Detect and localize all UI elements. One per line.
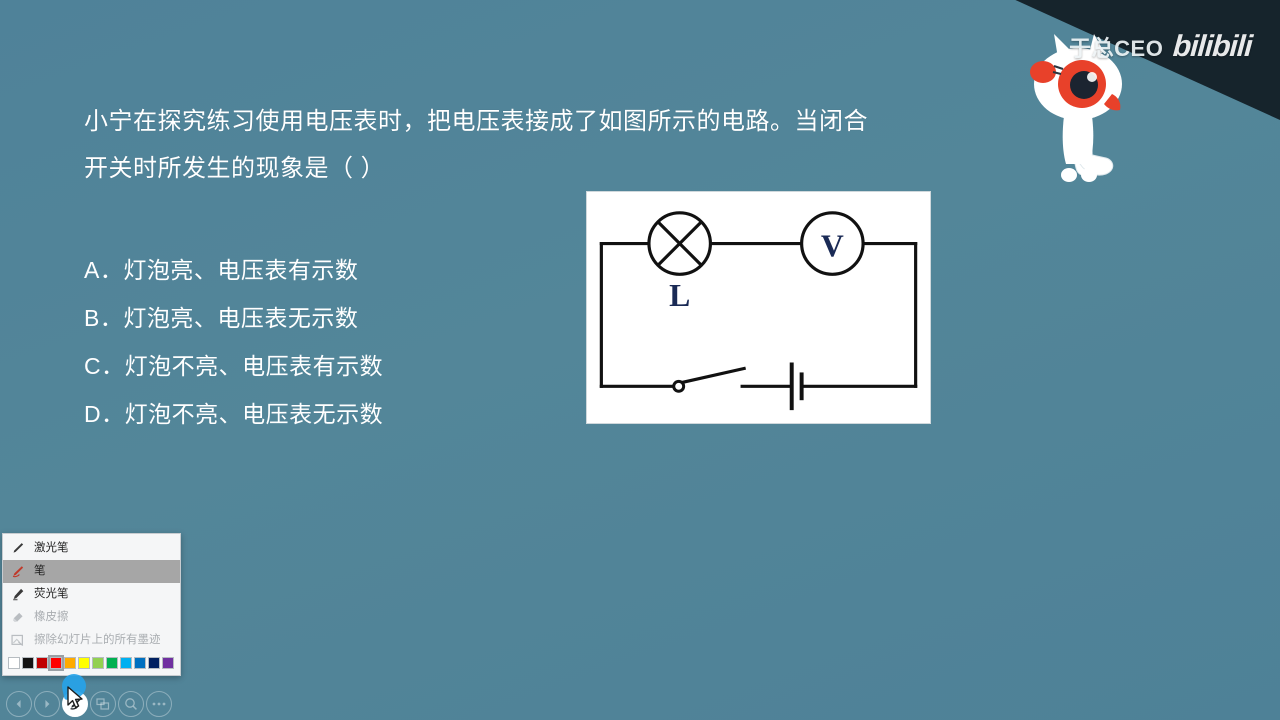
- option-b-letter: B．: [84, 294, 123, 342]
- more-options-button[interactable]: [146, 691, 172, 717]
- previous-slide-button[interactable]: [6, 691, 32, 717]
- slideshow-control-bar[interactable]: [0, 688, 195, 720]
- menu-item-highlighter[interactable]: 荧光笔: [3, 583, 180, 606]
- next-slide-button[interactable]: [34, 691, 60, 717]
- color-swatch-red[interactable]: [50, 657, 62, 669]
- question-line-1: 小宁在探究练习使用电压表时，把电压表接成了如图所示的电路。当闭合: [84, 98, 964, 145]
- svg-text:V: V: [821, 228, 844, 263]
- pen-color-palette[interactable]: [3, 652, 180, 675]
- option-b[interactable]: B．灯泡亮、电压表无示数: [84, 294, 604, 342]
- menu-item-pen-label: 笔: [34, 566, 46, 578]
- all-slides-button[interactable]: [90, 691, 116, 717]
- menu-item-eraser[interactable]: 橡皮擦: [3, 606, 180, 629]
- color-swatch-white[interactable]: [8, 657, 20, 669]
- option-c-letter: C．: [84, 342, 125, 390]
- pen-tools-button[interactable]: [62, 691, 88, 717]
- color-swatch-light-green[interactable]: [92, 657, 104, 669]
- eraser-icon: [9, 610, 25, 626]
- menu-item-laser-pointer[interactable]: 激光笔: [3, 537, 180, 560]
- highlighter-icon: [9, 587, 25, 603]
- option-a-text: 灯泡亮、电压表有示数: [123, 257, 358, 283]
- zoom-in-button[interactable]: [118, 691, 144, 717]
- watermark-channel-name: 于总CEO: [1069, 31, 1163, 63]
- pen-icon: [9, 564, 25, 580]
- option-c[interactable]: C．灯泡不亮、电压表有示数: [84, 342, 604, 390]
- pen-tools-menu[interactable]: 激光笔 笔 荧光笔 橡皮擦: [2, 533, 181, 676]
- answer-options: A．灯泡亮、电压表有示数 B．灯泡亮、电压表无示数 C．灯泡不亮、电压表有示数 …: [84, 246, 604, 438]
- magnifier-icon: [124, 697, 138, 711]
- bilibili-mascot: [1020, 28, 1145, 193]
- circuit-diagram: L V: [586, 191, 931, 424]
- ellipsis-icon: [151, 701, 167, 707]
- menu-item-erase-all-ink[interactable]: 擦除幻灯片上的所有墨迹: [3, 629, 180, 652]
- color-swatch-yellow[interactable]: [78, 657, 90, 669]
- color-swatch-dark-red[interactable]: [36, 657, 48, 669]
- option-a[interactable]: A．灯泡亮、电压表有示数: [84, 246, 604, 294]
- option-a-letter: A．: [84, 246, 123, 294]
- chevron-left-icon: [13, 698, 25, 710]
- slide-canvas[interactable]: 小宁在探究练习使用电压表时，把电压表接成了如图所示的电路。当闭合 开关时所发生的…: [0, 0, 1280, 720]
- erase-all-ink-icon: [9, 633, 25, 649]
- question-line-2: 开关时所发生的现象是（ ）: [84, 145, 964, 192]
- bilibili-logo: bilibili: [1172, 30, 1253, 64]
- menu-item-laser-pointer-label: 激光笔: [34, 543, 69, 555]
- color-swatch-black[interactable]: [22, 657, 34, 669]
- battery-symbol: [792, 363, 802, 411]
- option-c-text: 灯泡不亮、电压表有示数: [125, 353, 384, 379]
- chevron-right-icon: [41, 698, 53, 710]
- pen-icon: [67, 696, 83, 712]
- question-text: 小宁在探究练习使用电压表时，把电压表接成了如图所示的电路。当闭合 开关时所发生的…: [84, 98, 964, 192]
- color-swatch-dark-blue[interactable]: [148, 657, 160, 669]
- voltmeter-symbol: V: [802, 213, 863, 274]
- option-d-letter: D．: [84, 390, 125, 438]
- color-swatch-green[interactable]: [106, 657, 118, 669]
- color-swatch-blue[interactable]: [134, 657, 146, 669]
- menu-item-pen[interactable]: 笔: [3, 560, 180, 583]
- svg-text:L: L: [669, 278, 690, 313]
- menu-item-eraser-label: 橡皮擦: [34, 612, 69, 624]
- option-b-text: 灯泡亮、电压表无示数: [123, 305, 358, 331]
- option-d-text: 灯泡不亮、电压表无示数: [125, 401, 384, 427]
- color-swatch-purple[interactable]: [162, 657, 174, 669]
- watermark: 于总CEO bilibili: [1069, 30, 1252, 64]
- laser-pointer-icon: [9, 541, 25, 557]
- color-swatch-orange[interactable]: [64, 657, 76, 669]
- menu-item-highlighter-label: 荧光笔: [34, 589, 69, 601]
- color-swatch-light-blue[interactable]: [120, 657, 132, 669]
- option-d[interactable]: D．灯泡不亮、电压表无示数: [84, 390, 604, 438]
- menu-item-erase-all-ink-label: 擦除幻灯片上的所有墨迹: [34, 635, 161, 647]
- lamp-symbol: [649, 213, 710, 274]
- grid-icon: [96, 697, 110, 711]
- decorative-dark-wedge-shadow: [980, 0, 1280, 90]
